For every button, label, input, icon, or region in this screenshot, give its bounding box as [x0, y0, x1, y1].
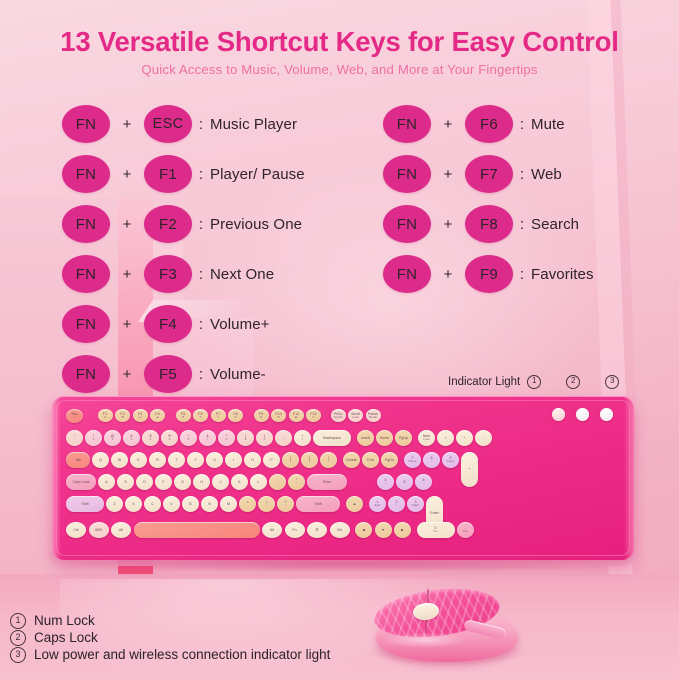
keycap[interactable]: 3PgDn — [407, 496, 424, 512]
keycap-label: R — [156, 458, 159, 462]
shortcut-colon-symbol: : — [192, 366, 210, 383]
indicator-legend: 1Num Lock2Caps Lock3Low power and wirele… — [10, 612, 330, 663]
keycap[interactable]: *8 — [218, 430, 235, 446]
shortcut-row: FN+F7:Web — [383, 149, 594, 199]
keycap-label: ◀ — [362, 528, 365, 532]
keycap-label: V — [170, 502, 172, 506]
shortcut-action-label: Next One — [210, 266, 274, 283]
keycap-label: * — [464, 436, 465, 440]
keycap[interactable]: "' — [288, 474, 305, 490]
keycap-label: ☰ — [315, 528, 318, 532]
keycap[interactable]: F3⏭ — [133, 409, 148, 422]
shortcut-colon-symbol: : — [192, 166, 210, 183]
shortcut-function-key: F8 — [465, 205, 513, 243]
keycap-sublabel: ; — [277, 482, 278, 486]
indicator-light-label: Indicator Light — [448, 376, 520, 388]
keycap[interactable]: PgDn — [381, 452, 398, 468]
keycap-sublabel: Ins — [433, 530, 437, 534]
keycap[interactable]: &7 — [199, 430, 216, 446]
shortcut-plus-symbol: + — [431, 216, 465, 233]
shortcut-function-key: F9 — [465, 255, 513, 293]
keycap-label: Shift — [314, 502, 321, 506]
keycap[interactable]: Q — [92, 452, 109, 468]
shortcut-list-right: FN+F6:MuteFN+F7:WebFN+F8:SearchFN+F9:Fav… — [383, 99, 594, 299]
shortcut-colon-symbol: : — [192, 116, 210, 133]
shortcut-action-label: Volume- — [210, 366, 266, 383]
keycap[interactable]: Enter — [307, 474, 347, 490]
keycap-sublabel: 7 — [207, 438, 209, 442]
led-power-wireless — [600, 408, 613, 421]
keycap[interactable]: F4▲ — [150, 409, 165, 422]
shortcut-colon-symbol: : — [513, 266, 531, 283]
led-num-lock — [552, 408, 565, 421]
shortcut-action-label: Music Player — [210, 116, 297, 133]
keycap-label: Fn — [292, 528, 296, 532]
shortcut-modifier-key: FN — [383, 155, 431, 193]
keycap-label: W — [118, 458, 121, 462]
keycap[interactable]: Alt — [262, 522, 282, 538]
shortcut-row: FN+F8:Search — [383, 199, 594, 249]
keycap[interactable]: P — [263, 452, 280, 468]
keycap[interactable]: F5▼ — [176, 409, 191, 422]
keycap[interactable]: + — [461, 452, 478, 487]
legend-item-number: 2 — [10, 630, 26, 646]
keycap[interactable]: F7⌂ — [211, 409, 226, 422]
shortcut-function-key: ESC — [144, 105, 192, 143]
keycap-sublabel: , — [247, 504, 248, 508]
shortcut-action-label: Volume+ — [210, 316, 270, 333]
keycap[interactable]: WIN — [89, 522, 109, 538]
keycap-sublabel: SysRq — [333, 416, 342, 420]
keycap[interactable]: L — [250, 474, 267, 490]
shortcut-colon-symbol: : — [192, 266, 210, 283]
shortcut-row: FN+ESC:Music Player — [62, 99, 305, 149]
keycap[interactable]: I — [225, 452, 242, 468]
keycap[interactable]: W — [111, 452, 128, 468]
keycap-sublabel: ▼ — [181, 416, 184, 420]
keycap-sublabel: End — [375, 504, 381, 508]
keycap[interactable]: F9★ — [254, 409, 269, 422]
keycap-label: D — [143, 480, 146, 484]
keycap-label: 5 — [404, 480, 406, 484]
keycap[interactable]: - — [475, 430, 492, 446]
keycap[interactable]: PauseBreak — [366, 409, 381, 422]
keycap[interactable]: Shift — [66, 496, 104, 512]
keycap-sublabel: 1 — [93, 438, 95, 442]
shortcut-action-label: Mute — [531, 116, 565, 133]
keycap-label: L — [258, 480, 260, 484]
keycap-sublabel: ⌂ — [217, 416, 219, 420]
keycap[interactable]: A — [98, 474, 115, 490]
keycap-sublabel: ] — [309, 460, 310, 464]
keycap-sublabel: ` — [74, 438, 75, 442]
keycap[interactable]: ▼ — [375, 522, 392, 538]
keycap-sublabel: ✉ — [277, 416, 280, 420]
keycap-sublabel: ♪ — [74, 416, 76, 420]
keycap[interactable]: }] — [301, 452, 318, 468]
keycap-label: End — [367, 458, 373, 462]
keycap[interactable]: Esc♪ — [66, 409, 83, 423]
shortcut-colon-symbol: : — [513, 166, 531, 183]
keycap-label: Alt — [119, 528, 123, 532]
shortcut-modifier-key: FN — [62, 155, 110, 193]
shortcut-colon-symbol: : — [192, 316, 210, 333]
keycap[interactable]: 8↑ — [423, 452, 440, 468]
keycap-label: Alt — [270, 528, 274, 532]
keycap-sublabel: [ — [290, 460, 291, 464]
shortcut-modifier-key: FN — [383, 255, 431, 293]
keycap[interactable]: >. — [258, 496, 275, 512]
led-caps-lock — [576, 408, 589, 421]
keycap-sublabel: ■ — [295, 416, 297, 420]
keycap[interactable]: C — [144, 496, 161, 512]
keycap[interactable]: End — [362, 452, 379, 468]
keycap[interactable]: M — [220, 496, 237, 512]
keycap[interactable]: ^6 — [180, 430, 197, 446]
keycap[interactable]: Ctrl — [66, 522, 86, 538]
keycap[interactable]: X — [125, 496, 142, 512]
keycap[interactable]: Backspace — [313, 430, 351, 446]
keycap-label: ▲ — [353, 502, 357, 506]
page-title: 13 Versatile Shortcut Keys for Easy Cont… — [0, 26, 679, 58]
keycap[interactable]: {[ — [282, 452, 299, 468]
indicator-marker-2: 2 — [566, 375, 580, 389]
keycap[interactable]: H — [193, 474, 210, 490]
keycap-label: K — [238, 480, 240, 484]
shortcut-modifier-key: FN — [62, 305, 110, 343]
shortcut-colon-symbol: : — [513, 216, 531, 233]
shortcut-row: FN+F5:Volume- — [62, 349, 305, 399]
keycap-sublabel: Del — [463, 530, 468, 534]
keycap-label: / — [445, 436, 446, 440]
shortcut-modifier-key: FN — [62, 105, 110, 143]
keycap[interactable]: 7Home — [404, 452, 421, 468]
keycap[interactable]: ◀ — [355, 522, 372, 538]
page-subtitle: Quick Access to Music, Volume, Web, and … — [0, 62, 679, 77]
shortcut-modifier-key: FN — [62, 355, 110, 393]
keycap-label: F — [162, 480, 164, 484]
keycap-sublabel: 9 — [245, 438, 247, 442]
keycap-sublabel: \ — [328, 460, 329, 464]
keycap[interactable]: F12▭ — [306, 409, 321, 422]
keycap-label: I — [233, 458, 234, 462]
shortcut-plus-symbol: + — [431, 166, 465, 183]
shortcut-colon-symbol: : — [192, 216, 210, 233]
keycap[interactable]: N — [201, 496, 218, 512]
keycap-label: Y — [194, 458, 196, 462]
keycap[interactable]: 4← — [377, 474, 394, 490]
shortcut-row: FN+F3:Next One — [62, 249, 305, 299]
shortcut-function-key: F5 — [144, 355, 192, 393]
product-infographic: 13 Versatile Shortcut Keys for Easy Cont… — [0, 0, 679, 679]
keycap[interactable]: 5 — [396, 474, 413, 490]
keycap-label: Ctrl — [73, 528, 79, 532]
legend-item-text: Caps Lock — [34, 630, 98, 645]
keycap[interactable]: ScrollLock — [348, 409, 363, 422]
keycap[interactable]: F8⚲ — [228, 409, 243, 422]
keycap-label: Enter — [323, 480, 332, 484]
keycap-label: X — [132, 502, 134, 506]
keycap-label: A — [105, 480, 107, 484]
legend-item: 1Num Lock — [10, 612, 330, 629]
shortcut-modifier-key: FN — [383, 205, 431, 243]
keycap[interactable]: F6✕ — [193, 409, 208, 422]
keycap-sublabel: ' — [296, 482, 297, 486]
keycap[interactable]: F11■ — [289, 409, 304, 422]
shortcut-function-key: F6 — [465, 105, 513, 143]
keycap-label: Delete — [346, 458, 356, 462]
keycap[interactable]: Shift — [296, 496, 340, 512]
keycap-sublabel: Break — [369, 416, 377, 420]
keycap[interactable]: F10✉ — [271, 409, 286, 422]
keycap[interactable]: 0Ins — [417, 522, 455, 538]
indicator-marker-1: 1 — [527, 375, 541, 389]
keycap-sublabel: Lock — [352, 416, 359, 420]
shortcut-function-key: F4 — [144, 305, 192, 343]
shortcut-plus-symbol: + — [431, 266, 465, 283]
keycap-sublabel: 0 — [264, 438, 266, 442]
keycap[interactable]: %5 — [161, 430, 178, 446]
indicator-light-callout: Indicator Light 1 2 3 — [448, 375, 619, 389]
keycap-sublabel: 6 — [188, 438, 190, 442]
keycap-sublabel: ▭ — [312, 416, 315, 420]
keycap[interactable]: Y — [187, 452, 204, 468]
keycap[interactable]: .Del — [457, 522, 474, 538]
keycap[interactable]: F1⏯ — [98, 409, 113, 422]
keycap-label: ▶ — [401, 528, 404, 532]
keycap[interactable]: Tab — [66, 452, 90, 468]
legend-item-number: 1 — [10, 613, 26, 629]
keycap[interactable]: #3 — [123, 430, 140, 446]
keycap[interactable]: G — [174, 474, 191, 490]
keycap-sublabel: PgUp — [447, 460, 455, 464]
keycap-label: Shift — [81, 502, 88, 506]
shortcut-function-key: F7 — [465, 155, 513, 193]
legend-item-text: Num Lock — [34, 613, 95, 628]
keycap[interactable]: ▲ — [346, 496, 363, 512]
keycap-sublabel: Home — [408, 460, 416, 464]
keycap[interactable]: D — [136, 474, 153, 490]
keycap-sublabel: ⏭ — [139, 416, 142, 420]
shortcut-modifier-key: FN — [62, 255, 110, 293]
keycap[interactable]: V — [163, 496, 180, 512]
keycap-sublabel: ▲ — [156, 416, 159, 420]
shortcut-action-label: Previous One — [210, 216, 302, 233]
shortcut-action-label: Favorites — [531, 266, 594, 283]
shortcut-colon-symbol: : — [513, 116, 531, 133]
keycap[interactable]: ~` — [66, 430, 83, 446]
keycap[interactable]: PrtScSysRq — [331, 409, 346, 422]
wireless-keyboard[interactable]: Esc♪F1⏯F2⏮F3⏭F4▲F5▼F6✕F7⌂F8⚲F9★F10✉F11■F… — [52, 396, 634, 560]
keycap-sublabel: / — [285, 504, 286, 508]
keycap-label: PgDn — [385, 458, 394, 462]
keycap[interactable]: PgUp — [395, 430, 412, 446]
shortcut-action-label: Player/ Pause — [210, 166, 305, 183]
shortcut-plus-symbol: + — [110, 166, 144, 183]
keycap[interactable]: 9PgUp — [442, 452, 459, 468]
keycap-sublabel: PgDn — [412, 504, 420, 508]
keycap[interactable]: K — [231, 474, 248, 490]
shortcut-row: FN+F1:Player/ Pause — [62, 149, 305, 199]
keycap-sublabel: Lock — [423, 438, 430, 442]
keycap-label: Insert — [361, 436, 370, 440]
keycap[interactable]: ▶ — [394, 522, 411, 538]
keycap-label: ▼ — [381, 528, 385, 532]
keycap[interactable]: Alt — [111, 522, 131, 538]
keycap[interactable]: E — [130, 452, 147, 468]
indicator-marker-3: 3 — [605, 375, 619, 389]
shortcut-plus-symbol: + — [431, 116, 465, 133]
keycap[interactable]: 1End — [369, 496, 386, 512]
keycap[interactable]: B — [182, 496, 199, 512]
shortcut-row: FN+F9:Favorites — [383, 249, 594, 299]
keycap[interactable]: 6→ — [415, 474, 432, 490]
keycap[interactable]: |\ — [320, 452, 337, 468]
shortcut-plus-symbol: + — [110, 216, 144, 233]
keycap[interactable]: ☰ — [307, 522, 327, 538]
keycap-label: Tab — [75, 458, 81, 462]
keycap[interactable]: NumLock — [418, 430, 435, 446]
keycap-sublabel: 8 — [226, 438, 228, 442]
shortcut-row: FN+F2:Previous One — [62, 199, 305, 249]
shortcut-modifier-key: FN — [62, 205, 110, 243]
wireless-mouse[interactable] — [372, 588, 522, 664]
keycap[interactable] — [134, 522, 260, 538]
shortcut-action-label: Web — [531, 166, 562, 183]
keycap-label: Caps Lock — [73, 480, 90, 484]
keycap[interactable]: Fn — [285, 522, 305, 538]
keycap[interactable]: S — [117, 474, 134, 490]
keycap-sublabel: - — [283, 438, 284, 442]
keycap-sublabel: 5 — [169, 438, 171, 442]
keycap[interactable]: (9 — [237, 430, 254, 446]
keycap[interactable]: Z — [106, 496, 123, 512]
keycap[interactable]: Insert — [357, 430, 374, 446]
keycap-sublabel: → — [422, 482, 425, 486]
keycap[interactable]: ?/ — [277, 496, 294, 512]
keycap-sublabel: ← — [384, 482, 387, 486]
keycap-label: G — [181, 480, 184, 484]
shortcut-function-key: F3 — [144, 255, 192, 293]
keycap-sublabel: ⚲ — [234, 416, 236, 420]
keycap-label: Z — [113, 502, 115, 506]
keycap-sublabel: ↓ — [396, 504, 398, 508]
keycap[interactable]: Caps Lock — [66, 474, 96, 490]
keycap[interactable]: T — [168, 452, 185, 468]
shortcut-plus-symbol: + — [110, 116, 144, 133]
keycap-sublabel: ⏮ — [121, 416, 124, 420]
keycap-label: - — [483, 436, 484, 440]
keycap[interactable]: J — [212, 474, 229, 490]
shortcut-action-label: Search — [531, 216, 579, 233]
keycap-label: Q — [99, 458, 102, 462]
keycap[interactable]: F — [155, 474, 172, 490]
keycap-sublabel: = — [302, 438, 304, 442]
keycap[interactable]: U — [206, 452, 223, 468]
keycap-label: B — [189, 502, 191, 506]
keycap-label: C — [151, 502, 154, 506]
keycap-sublabel: ★ — [260, 416, 263, 420]
keycap[interactable]: Delete — [343, 452, 360, 468]
keycap-label: WIN — [95, 528, 102, 532]
keycap-sublabel: ↑ — [431, 460, 433, 464]
keycap-label: + — [468, 467, 470, 471]
keycap-label: N — [208, 502, 211, 506]
keycap[interactable]: _- — [275, 430, 292, 446]
keycap-label: S — [124, 480, 126, 484]
legend-item-number: 3 — [10, 647, 26, 663]
shortcut-row: FN+F6:Mute — [383, 99, 594, 149]
shortcut-plus-symbol: + — [110, 316, 144, 333]
legend-item: 2Caps Lock — [10, 629, 330, 646]
keycap-sublabel: ✕ — [199, 416, 202, 420]
keycap[interactable]: !1 — [85, 430, 102, 446]
keycap-sublabel: 3 — [131, 438, 133, 442]
keycap-sublabel: . — [266, 504, 267, 508]
keycap-label: M — [227, 502, 230, 506]
shortcut-plus-symbol: + — [110, 366, 144, 383]
keycap[interactable]: $4 — [142, 430, 159, 446]
keycap-sublabel: 2 — [112, 438, 114, 442]
keycap-label: J — [220, 480, 222, 484]
keycap[interactable]: R — [149, 452, 166, 468]
keycap-label: O — [251, 458, 254, 462]
keycap-sublabel: 4 — [150, 438, 152, 442]
legend-item-text: Low power and wireless connection indica… — [34, 647, 330, 662]
keycap-label: Backspace — [323, 436, 341, 440]
keycap-label: E — [137, 458, 139, 462]
shortcut-function-key: F2 — [144, 205, 192, 243]
keycap-label: Home — [380, 436, 390, 440]
keycap[interactable]: Ctrl — [330, 522, 350, 538]
keycap[interactable]: / — [437, 430, 454, 446]
keycap-label: Ctrl — [337, 528, 343, 532]
shortcut-list-left: FN+ESC:Music PlayerFN+F1:Player/ PauseFN… — [62, 99, 305, 399]
keycap[interactable]: <, — [239, 496, 256, 512]
keycap[interactable]: )0 — [256, 430, 273, 446]
shortcut-plus-symbol: + — [110, 266, 144, 283]
shortcut-function-key: F1 — [144, 155, 192, 193]
keycap-sublabel: ⏯ — [104, 416, 106, 420]
keycap-label: P — [270, 458, 272, 462]
keycap[interactable]: @2 — [104, 430, 121, 446]
keycap-label: H — [200, 480, 203, 484]
mouse-highlight — [382, 632, 468, 648]
keycap-label: PgUp — [399, 436, 408, 440]
legend-item: 3Low power and wireless connection indic… — [10, 646, 330, 663]
keycap[interactable]: O — [244, 452, 261, 468]
keycap[interactable]: * — [456, 430, 473, 446]
shortcut-row: FN+F4:Volume+ — [62, 299, 305, 349]
keycap[interactable]: :; — [269, 474, 286, 490]
shortcut-modifier-key: FN — [383, 105, 431, 143]
keycap-label: T — [175, 458, 177, 462]
keycap[interactable]: F2⏮ — [115, 409, 130, 422]
keycap[interactable]: Home — [376, 430, 393, 446]
keycap[interactable]: += — [294, 430, 311, 446]
keycap[interactable]: 2↓ — [388, 496, 405, 512]
keycap-label: U — [213, 458, 216, 462]
keycap-label: Enter — [430, 511, 439, 515]
